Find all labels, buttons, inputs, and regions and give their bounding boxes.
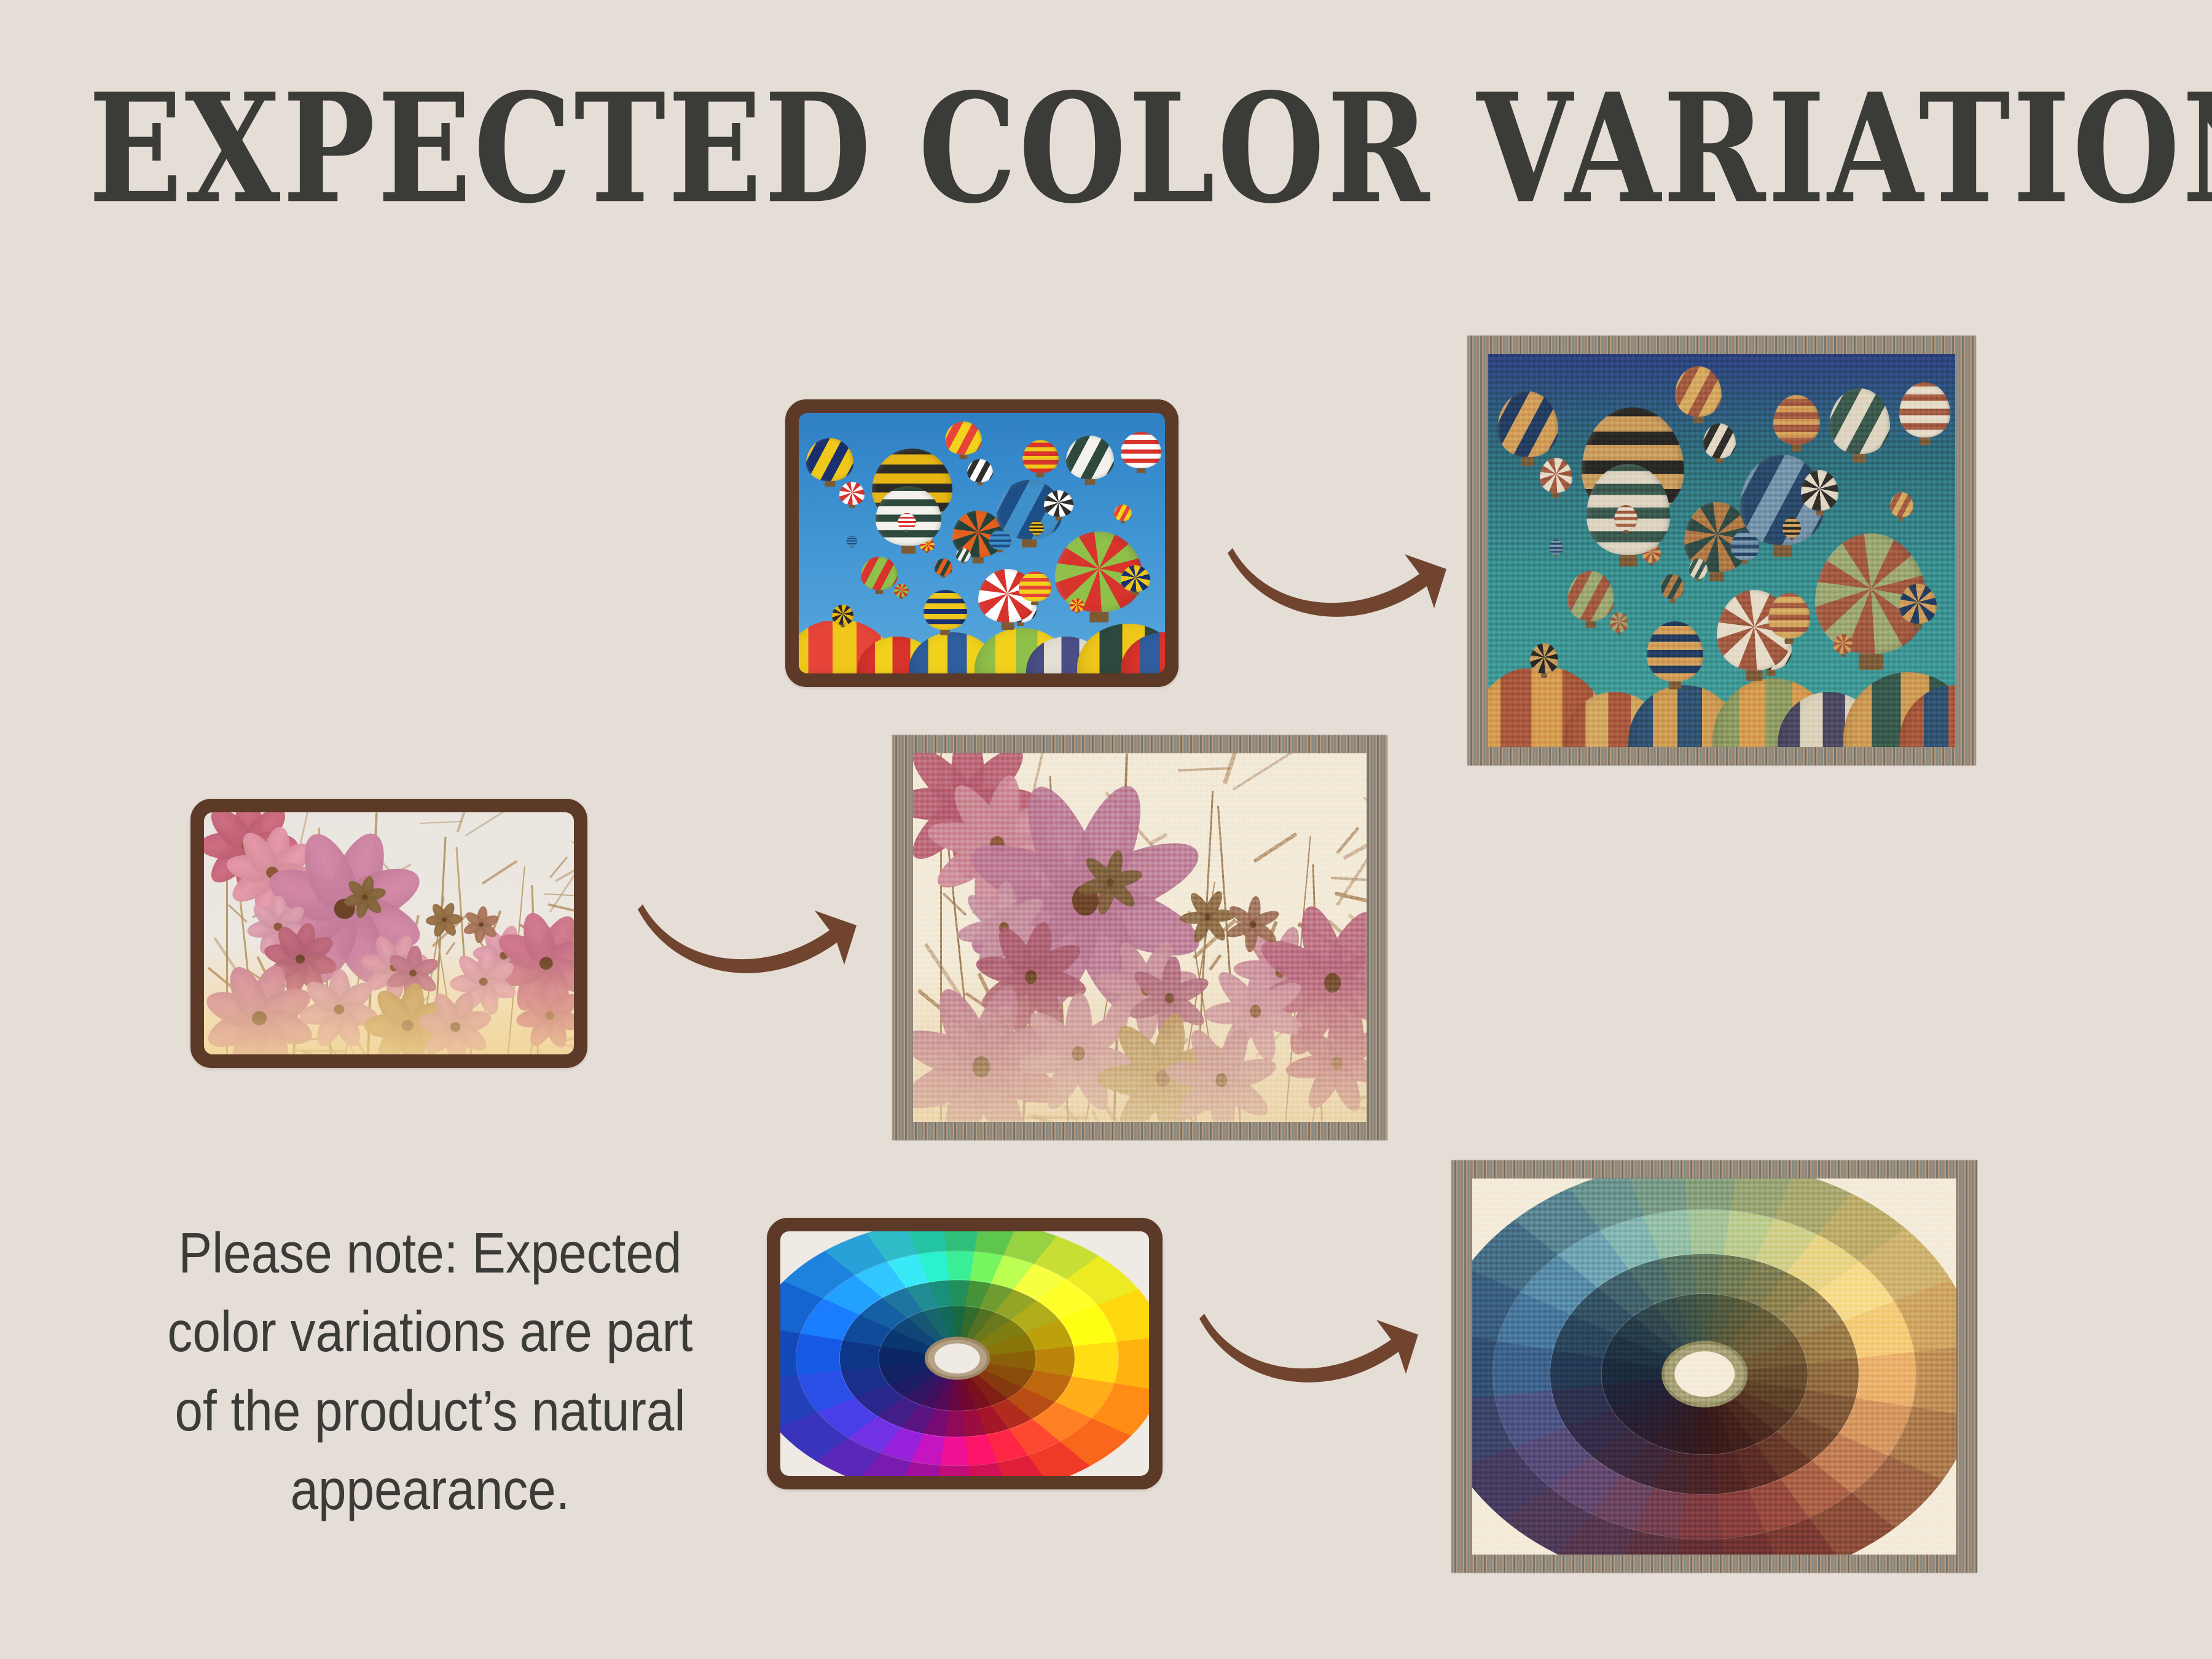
cosmos-flower [470,914,492,935]
cosmos-flower [433,1006,477,1048]
woven-balloon [1834,634,1852,654]
cosmos-flower [1312,1033,1362,1092]
woven-balloon [1066,436,1113,479]
balloon-ground [799,621,1165,673]
color-wheel [780,1231,1149,1476]
cosmos-flower [1194,1048,1249,1112]
woven-balloon [1549,539,1563,555]
cosmos-flower [1294,938,1367,1029]
color-wheel-source-photo[interactable] [767,1218,1163,1489]
woven-balloon [1070,598,1084,612]
color-wheel-woven-blanket[interactable] [1451,1160,1977,1573]
cosmos-flower [515,933,574,993]
balloon-woven-blanket[interactable] [1467,335,1976,766]
woven-balloon [1022,440,1059,473]
woven-balloon [1890,492,1913,517]
cosmos-flower [315,987,363,1032]
woven-balloon [1029,521,1044,535]
cosmos-flower [352,885,378,909]
woven-balloon [1829,388,1890,453]
woven-balloon [1773,395,1820,445]
woven-balloon [924,590,968,630]
poster-canvas: EXPECTED COLOR VARIATIONS Please note: E… [0,0,2212,1659]
woven-balloon [1899,584,1937,624]
cosmos-flower [226,987,292,1050]
cosmos-flower [940,1019,1022,1115]
woven-balloon [1540,458,1572,493]
balloon-source-photo[interactable] [785,399,1179,687]
woven-balloon [894,584,909,597]
woven-balloon [967,459,993,482]
woven-balloon [839,482,865,505]
woven-balloon [1675,366,1722,417]
woven-balloon [1783,517,1801,538]
woven-balloon [861,557,898,590]
arrow-color-wheel [1194,1298,1440,1421]
cosmos-flower [1094,864,1126,901]
disclaimer-note: Please note: Expected color variations a… [144,1214,717,1529]
arrow-flowers [633,892,879,1015]
flower-source-photo[interactable] [190,799,587,1068]
woven-balloon [956,548,971,562]
cosmos-flower [1239,908,1266,940]
cosmos-flower [530,996,570,1035]
cosmos-flower [1194,901,1222,933]
woven-balloon [1661,574,1684,599]
woven-balloon [1114,504,1132,521]
cosmos-flower [433,909,455,930]
woven-balloon [1801,470,1838,511]
woven-balloon [1530,643,1558,673]
woven-balloon [1703,423,1736,458]
color-wheel [1472,1179,1956,1555]
page-title: EXPECTED COLOR VARIATIONS [88,74,2124,224]
woven-balloon [898,513,916,530]
woven-balloon [1610,612,1628,632]
woven-balloon [832,605,854,625]
woven-balloon [1689,559,1708,579]
balloon-ground [1488,669,1955,747]
arrow-balloons [1223,530,1469,653]
woven-balloon [935,559,953,575]
woven-balloon [1647,621,1703,681]
flower-woven-blanket[interactable] [892,735,1387,1140]
woven-balloon [846,536,857,546]
